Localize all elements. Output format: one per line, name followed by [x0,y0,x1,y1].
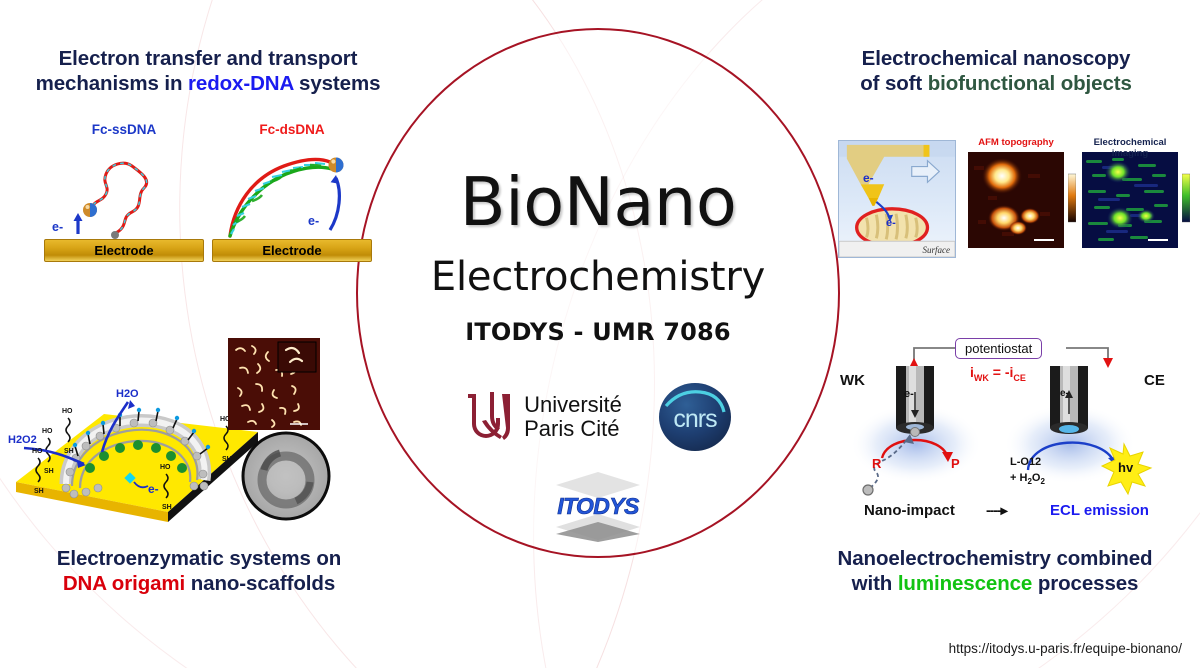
caption-bl-highlight: DNA origami [63,572,185,595]
caption-br-line1: Nanoelectrochemistry combined [838,547,1153,570]
probe-electron-label: e- [863,171,874,185]
universite-paris-cite-logo: Université Paris Cité [464,390,622,444]
itodys-logo: ITODYS [542,470,654,542]
thiol-sh-label: SH [44,468,54,475]
poster-canvas: BioNano Electrochemistry ITODYS - UMR 70… [0,0,1200,668]
caption-br-line2-a: with [852,572,898,595]
electron-label-dsdna: e- [308,214,319,228]
upc-wordmark: Université Paris Cité [524,393,622,440]
caption-tl-line2-a: mechanisms in [36,72,188,95]
svg-text:ITODYS: ITODYS [557,493,640,519]
caption-br-highlight: luminescence [898,572,1032,595]
luminol-label-line2: + H2O2 [1010,472,1045,486]
caption-br-line2-b: processes [1032,572,1138,595]
afm-colorbar [1068,170,1076,226]
cnrs-logo: cnrs [658,380,732,454]
probe-illustration [839,141,955,257]
photon-label: hv [1118,460,1133,475]
caption-tl-line2-b: systems [293,72,380,95]
luminol-sub-2b: 2 [1040,477,1044,486]
product-label: P [951,456,960,471]
potentiostat-label: potentiostat [965,341,1032,356]
current-equation: iWK = -iCE [970,364,1026,383]
tem-image [240,430,332,522]
reactant-label: R [872,456,881,471]
electron-label-wk: e- [904,388,914,400]
electron-label-ssdna: e- [52,220,63,234]
caption-tr-line2-a: of soft [860,72,928,95]
nano-impact-label: Nano-impact [864,502,955,519]
afm-topography-caption: AFM topography [968,137,1064,148]
page-title: BioNano [460,170,737,236]
caption-top-left: Electron transfer and transport mechanis… [8,46,408,96]
page-subtitle: Electrochemistry [431,254,765,300]
electrochemical-imaging-caption: Electrochemical imaging [1082,137,1178,159]
upc-line-2: Paris Cité [524,417,622,440]
caption-bottom-right: Nanoelectrochemistry combined with lumin… [796,546,1194,596]
figure-ecl-nanoimpact-setup: potentiostat iWK = -iCE WK CE e- e- R P … [838,336,1188,536]
figure-afm-topography: AFM topography [968,152,1064,248]
thiol-ho-label: HO [42,428,53,435]
luminol-h: + H [1010,472,1027,484]
caption-tr-line1: Electrochemical nanoscopy [862,47,1131,70]
website-url[interactable]: https://itodys.u-paris.fr/equipe-bionano… [949,641,1182,656]
counter-electrode-label: CE [1144,372,1165,389]
lab-unit-code: ITODYS - UMR 7086 [465,318,731,346]
working-electrode-label: WK [840,372,865,389]
thiol-sh-label: SH [34,488,44,495]
h2o-label: H2O [116,388,139,400]
figure-fc-ssdna: Fc-ssDNA e- Electrode [44,122,204,262]
caption-top-right: Electrochemical nanoscopy of soft biofun… [800,46,1192,96]
ecl-emission-label: ECL emission [1050,502,1149,519]
tem-micrograph-origami [240,430,332,522]
figure-electrochemical-imaging: Electrochemical imaging [1082,152,1178,248]
thiol-sh-label: SH [64,448,74,455]
electrode-bar-ssdna: Electrode [44,239,204,262]
caption-tr-highlight: biofunctional objects [928,72,1132,95]
electron-label-ce: e- [1060,388,1069,399]
svg-text:cnrs: cnrs [673,405,717,433]
afm-topography-image [968,152,1064,248]
eq-sub-wk: WK [974,373,989,383]
figure-fc-dsdna: Fc-dsDNA [212,122,372,262]
electrode-bar-dsdna: Electrode [212,239,372,262]
caption-tl-highlight: redox-DNA [188,72,293,95]
luminol-label-line1: L-O12 [1010,456,1041,468]
eq-sub-ce: CE [1013,373,1026,383]
caption-bottom-left: Electroenzymatic systems on DNA origami … [8,546,390,596]
process-arrow-icon: ----▸ [986,502,1007,519]
logo-row: Université Paris Cité cnrs [464,380,732,454]
afm-image [228,338,320,430]
upc-mark-icon [464,390,514,444]
surface-label: Surface [923,245,951,255]
potentiostat-box[interactable]: potentiostat [955,338,1042,359]
electron-label-origami: e- [148,482,159,496]
caption-bl-line1: Electroenzymatic systems on [57,547,341,570]
object-electron-label: e- [886,217,896,229]
thiol-sh-label: SH [222,456,232,463]
thiol-ho-label: HO [32,448,43,455]
thiol-sh-label: SH [162,504,172,511]
brand-block: BioNano Electrochemistry ITODYS - UMR 70… [356,28,840,558]
thiol-ho-label: HO [160,464,171,471]
figure-afm-probe-schematic: e- e- Surface [838,140,956,258]
caption-bl-line2-b: nano-scaffolds [185,572,335,595]
afm-micrograph-origami [228,338,320,430]
thiol-ho-label: HO [62,408,73,415]
itodys-mark-icon: ITODYS [542,470,654,542]
h2o2-label: H2O2 [8,434,37,446]
caption-tl-line1: Electron transfer and transport [59,47,358,70]
electrochemical-image [1082,152,1178,248]
electrochemical-colorbar [1182,170,1190,226]
eq-mid: = -i [989,364,1014,380]
upc-line-1: Université [524,393,622,416]
